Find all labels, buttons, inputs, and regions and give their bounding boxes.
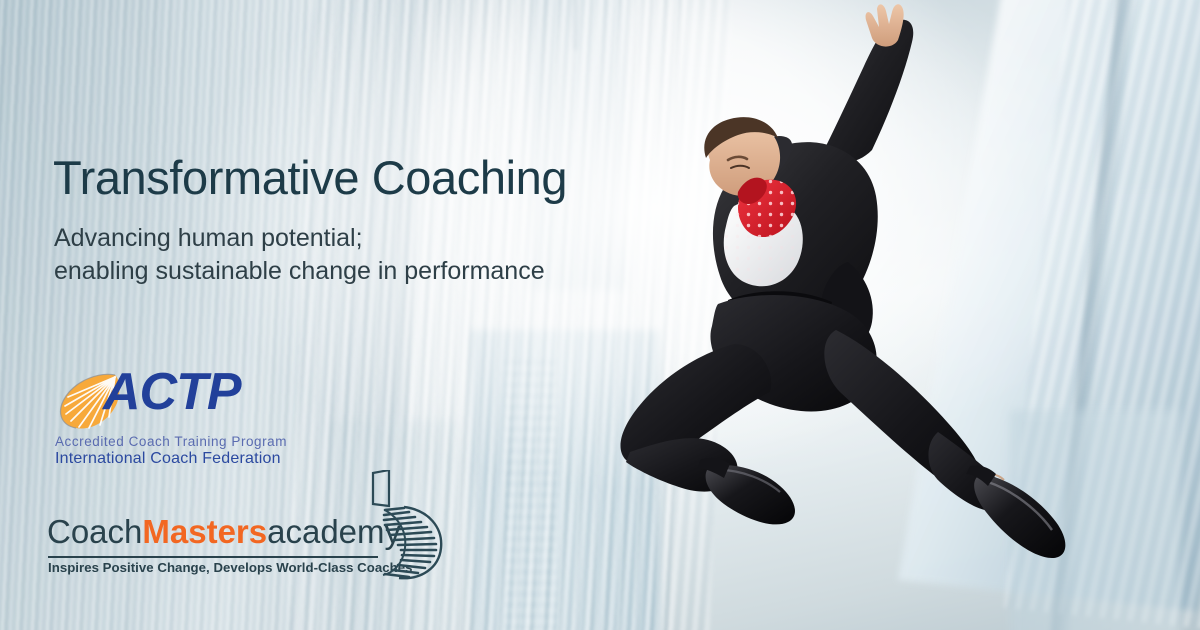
- coach-masters-academy-logo: CoachMastersacademy Inspires Positive Ch…: [47, 515, 447, 587]
- actp-federation-line: International Coach Federation: [55, 450, 281, 468]
- jumping-businessman-photo: [600, 0, 1120, 630]
- page-title: Transformative Coaching: [53, 153, 567, 202]
- spiral-staircase-icon: [359, 470, 459, 580]
- subtitle-line-1: Advancing human potential;: [54, 222, 545, 255]
- actp-wordmark: ACTP: [103, 366, 241, 418]
- actp-logo: ACTP Accredited Coach Training Program I…: [55, 368, 325, 473]
- page-subtitle: Advancing human potential; enabling sust…: [54, 222, 545, 288]
- subtitle-line-2: enabling sustainable change in performan…: [54, 255, 545, 288]
- cma-word-coach: Coach: [47, 513, 142, 550]
- cma-divider: [48, 556, 378, 558]
- actp-accreditation-line: Accredited Coach Training Program: [55, 434, 287, 449]
- cma-tagline: Inspires Positive Change, Develops World…: [48, 560, 413, 575]
- transformative-coaching-banner: Transformative Coaching Advancing human …: [0, 0, 1200, 630]
- cma-word-masters: Masters: [142, 513, 267, 550]
- cma-wordmark: CoachMastersacademy: [47, 515, 401, 548]
